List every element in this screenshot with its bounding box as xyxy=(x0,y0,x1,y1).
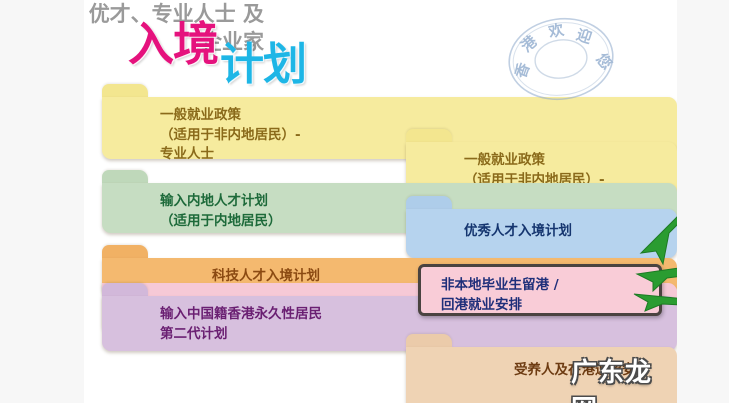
tab-lip xyxy=(406,129,452,143)
arrow-icon xyxy=(634,294,677,311)
seal-char: 欢 xyxy=(546,20,566,41)
tab-label: 输入内地人才计划 （适用于内地居民） xyxy=(160,192,282,231)
welcome-seal-stamp: 香 港 欢 迎 您 xyxy=(502,16,620,102)
arrow-icon xyxy=(641,195,677,264)
tab-lip xyxy=(102,170,148,184)
tab-lip xyxy=(102,245,148,259)
infographic-header: 入境 计划 优才、专业人士 及企业家 香 港 欢 迎 您 xyxy=(84,0,677,92)
seal-char: 迎 xyxy=(574,25,594,47)
arrow-icon xyxy=(637,253,677,291)
highlight-label: 非本地毕业生留港 / 回港就业安排 xyxy=(441,275,559,316)
title-secondary: 计划 xyxy=(220,28,306,92)
tab-label: 输入中国籍香港永久性居民 第二代计划 xyxy=(160,305,322,344)
tab-lip xyxy=(406,334,452,348)
immigration-schemes-infographic: 一般就业政策 （适用于非内地居民）- 专业人士 一般就业政策 （适用于非内地居民… xyxy=(84,0,677,403)
tab-label: 一般就业政策 （适用于非内地居民）- 专业人士 xyxy=(160,106,301,165)
seal-char: 香 xyxy=(511,60,533,80)
annotation-arrows xyxy=(599,190,677,325)
tab-lip xyxy=(102,283,148,297)
screenshot-root: 一般就业政策 （适用于非内地居民）- 专业人士 一般就业政策 （适用于非内地居民… xyxy=(0,0,729,403)
tab-lip xyxy=(406,196,452,210)
title-primary: 入境 xyxy=(128,8,218,74)
tab-label: 优秀人才入境计划 xyxy=(464,222,572,242)
watermark: 广东龙网 xyxy=(571,352,677,403)
